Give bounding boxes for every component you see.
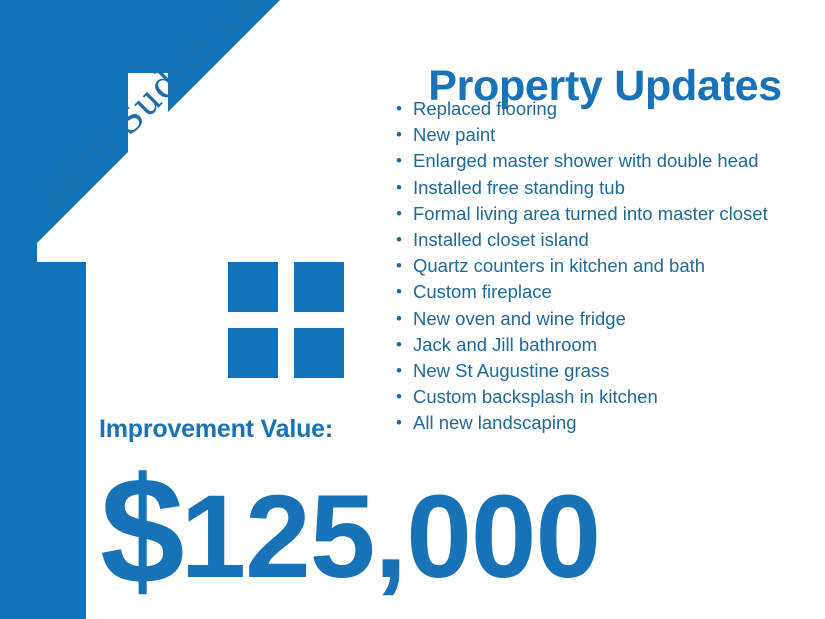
list-item: New oven and wine fridge <box>413 306 825 332</box>
amount-value: 125,000 <box>181 471 601 603</box>
list-item: Quartz counters in kitchen and bath <box>413 253 825 279</box>
property-updates-list: Replaced flooring New paint Enlarged mas… <box>389 96 825 437</box>
window-pane-bottom-right <box>294 328 344 378</box>
list-item: Jack and Jill bathroom <box>413 332 825 358</box>
four-pane-window-icon <box>228 262 344 378</box>
list-item: Enlarged master shower with double head <box>413 148 825 174</box>
list-item: New St Augustine grass <box>413 358 825 384</box>
list-item: Replaced flooring <box>413 96 825 122</box>
list-item: Installed closet island <box>413 227 825 253</box>
window-pane-top-left <box>228 262 278 312</box>
list-item: Installed free standing tub <box>413 175 825 201</box>
improvement-value-label: Improvement Value: <box>99 415 333 444</box>
list-item: New paint <box>413 122 825 148</box>
window-pane-top-right <box>294 262 344 312</box>
currency-symbol: $ <box>100 446 181 616</box>
list-item: Custom fireplace <box>413 279 825 305</box>
property-updates-infographic: 3420 Sudith Ln Property Updates Replaced… <box>0 0 825 619</box>
list-item: Custom backsplash in kitchen <box>413 384 825 410</box>
improvement-value-amount: $125,000 <box>100 455 600 607</box>
list-item: All new landscaping <box>413 410 825 436</box>
window-pane-bottom-left <box>228 328 278 378</box>
list-item: Formal living area turned into master cl… <box>413 201 825 227</box>
